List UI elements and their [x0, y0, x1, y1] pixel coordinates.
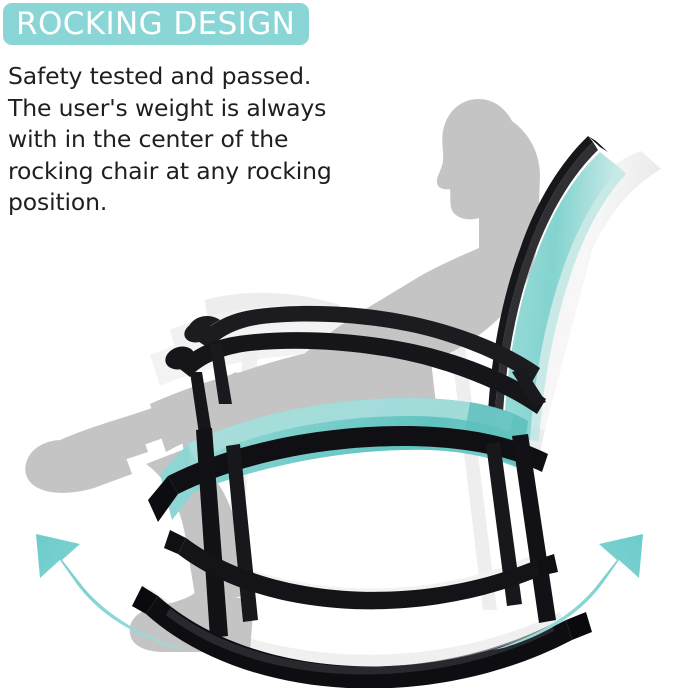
chair-armrest-near: [162, 332, 546, 414]
ghost-chair: [142, 151, 661, 672]
chair-armrest-far: [182, 306, 540, 382]
feature-description-text: Safety tested and passed. The user's wei…: [8, 61, 358, 219]
chair-seat: [160, 398, 528, 520]
rocking-arrow-right: [493, 534, 643, 650]
rocking-arrow-left: [36, 534, 186, 650]
chair-frame: [132, 306, 592, 688]
feature-description: Safety tested and passed. The user's wei…: [8, 61, 358, 219]
chair-backrest: [487, 136, 626, 441]
product-feature-page: ROCKING DESIGN Safety tested and passed.…: [0, 0, 679, 688]
section-headline-badge: ROCKING DESIGN: [3, 3, 309, 45]
page-title: ROCKING DESIGN: [16, 9, 295, 40]
